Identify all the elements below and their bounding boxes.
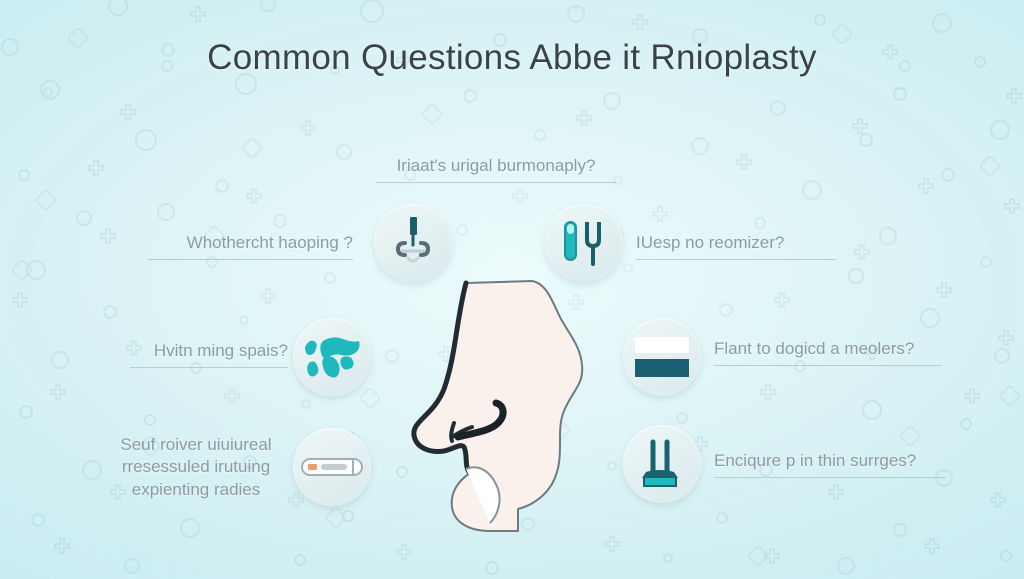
question-text: Enciqure p in thin surrges? bbox=[714, 450, 946, 472]
question-label-left-2: Hvitn ming spais? bbox=[130, 340, 288, 368]
question-text: Flant to dogicd a meolers? bbox=[714, 338, 942, 360]
question-label-left-3: Seuf roiver uiuiureal rresessuled irutui… bbox=[96, 434, 296, 501]
capsule-bandage-icon bbox=[301, 455, 363, 479]
syringe-icon bbox=[387, 215, 439, 271]
question-label-left-1: Whothercht haoping ? bbox=[148, 232, 353, 260]
label-underline bbox=[376, 182, 616, 183]
world-map-icon bbox=[303, 333, 361, 381]
label-underline bbox=[130, 367, 288, 368]
question-text: IUesp no reomizer? bbox=[636, 232, 836, 254]
bandage-bars-icon bbox=[633, 335, 691, 379]
question-text: Iriaat's urigal burmonaply? bbox=[376, 155, 616, 177]
label-underline bbox=[714, 365, 942, 366]
question-text: Hvitn ming spais? bbox=[130, 340, 288, 362]
question-text-line-2: rresessuled irutuing bbox=[96, 456, 296, 478]
bubble-stand-fork[interactable] bbox=[623, 425, 701, 503]
question-label-right-2: Flant to dogicd a meolers? bbox=[714, 338, 942, 366]
question-text: Whothercht haoping ? bbox=[148, 232, 353, 254]
bubble-test-tube[interactable] bbox=[545, 204, 623, 282]
bubble-syringe[interactable] bbox=[374, 204, 452, 282]
infographic-canvas: Common Questions Abbe it Rnioplasty bbox=[0, 0, 1024, 579]
label-underline bbox=[636, 259, 836, 260]
bubble-world-map[interactable] bbox=[293, 318, 371, 396]
nose-profile-illustration bbox=[398, 277, 613, 542]
question-label-right-3: Enciqure p in thin surrges? bbox=[714, 450, 946, 478]
question-label-right-1: IUesp no reomizer? bbox=[636, 232, 836, 260]
bubble-capsule-bandage[interactable] bbox=[293, 428, 371, 506]
question-text-line-1: Seuf roiver uiuiureal bbox=[96, 434, 296, 456]
stand-fork-icon bbox=[636, 438, 688, 490]
test-tube-and-fork-icon bbox=[559, 218, 609, 268]
bubble-bandage-bars[interactable] bbox=[623, 318, 701, 396]
label-underline bbox=[148, 259, 353, 260]
label-underline bbox=[714, 477, 946, 478]
page-title: Common Questions Abbe it Rnioplasty bbox=[0, 38, 1024, 78]
question-text-line-3: expienting radies bbox=[96, 479, 296, 501]
question-label-mid-top: Iriaat's urigal burmonaply? bbox=[376, 155, 616, 183]
